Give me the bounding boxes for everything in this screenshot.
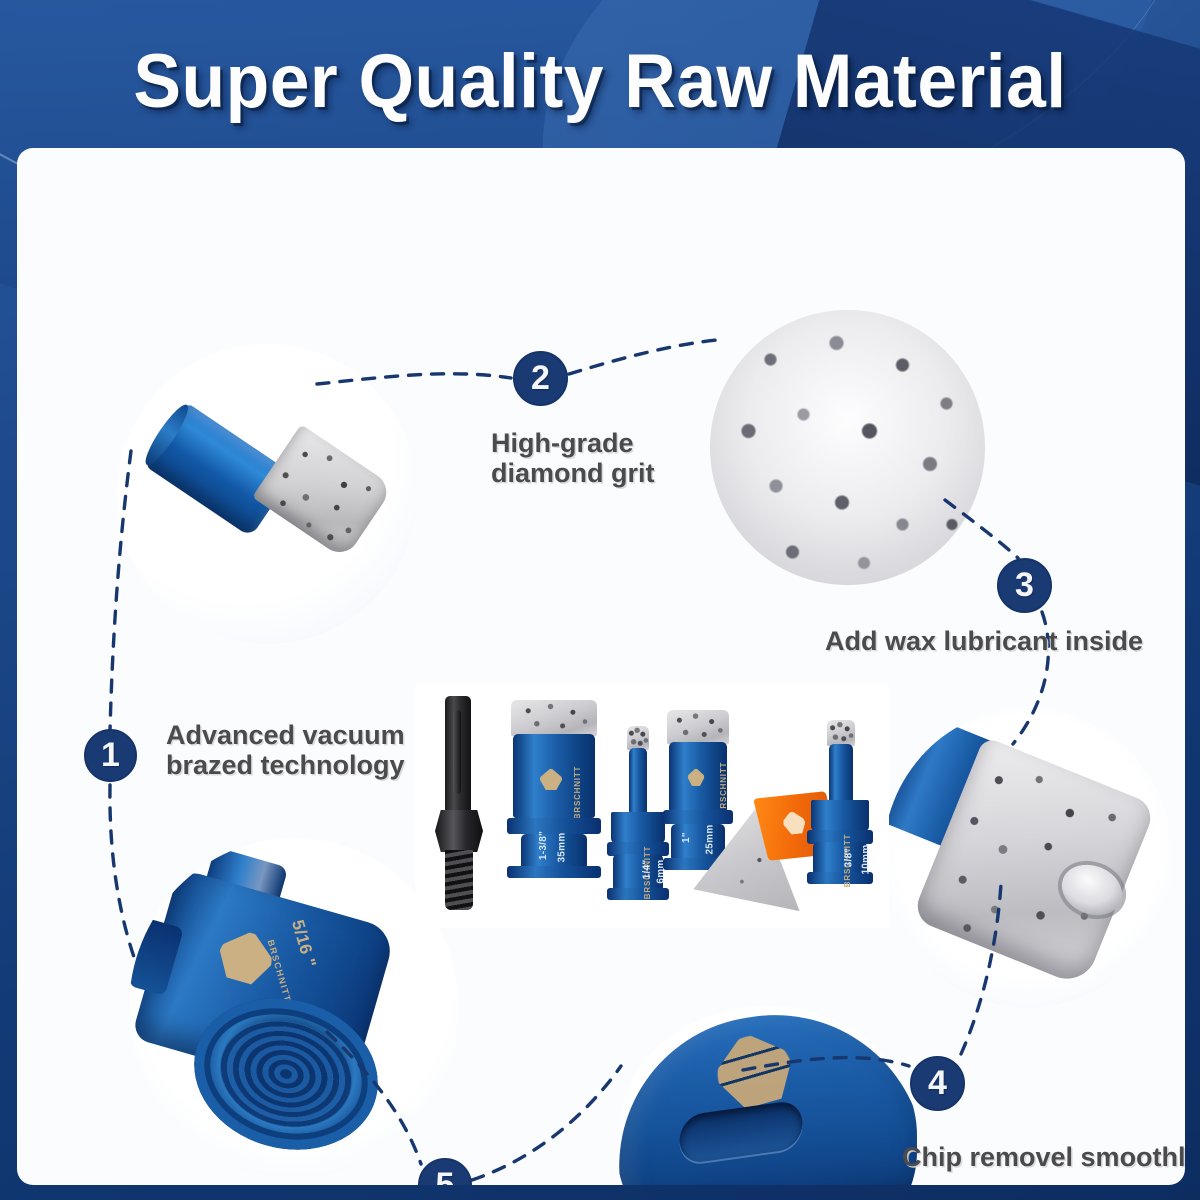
page-title: Super Quality Raw Material — [36, 38, 1164, 125]
bit-size-label: 1" — [681, 832, 692, 843]
bit-taper — [811, 800, 869, 832]
wire-1-bottom — [110, 785, 135, 960]
bit-crown — [511, 700, 597, 736]
callout-label-3: Add wax lubricant inside — [825, 626, 1143, 656]
content-panel: 5/16 " BRSCHNITT BRSCHNITT 1-3/8" — [17, 148, 1185, 1185]
callout-badge-5[interactable]: 5 — [418, 1158, 472, 1185]
bit-shank — [813, 842, 867, 874]
bit-metric-label: 35mm — [557, 832, 568, 862]
bit-brand-label: BRSCHNITT — [573, 766, 582, 819]
bit-size-label: 1-3/8" — [538, 831, 549, 860]
chip-slot-barrel-photo — [617, 1006, 917, 1185]
brand-logo-icon — [703, 1021, 804, 1115]
product-infographic-poster: Super Quality Raw Material — [0, 0, 1200, 1200]
bit-crown — [827, 720, 855, 746]
adapter-hex-nut — [435, 810, 483, 852]
adapter-shank — [445, 696, 471, 814]
bit-barrel — [829, 744, 853, 804]
bit-neck — [671, 824, 725, 860]
bit-brand-label: BRSCHNITT — [719, 762, 728, 815]
callout-badge-4[interactable]: 4 — [910, 1056, 965, 1111]
bit-metric-label: 25mm — [705, 824, 716, 854]
bit-base — [507, 866, 601, 878]
bit-flange — [507, 818, 601, 834]
bit-barrel — [629, 748, 647, 814]
callout-badge-3[interactable]: 3 — [997, 558, 1052, 613]
bit-size-label: 1/4" — [641, 860, 652, 880]
drill-bit-diamond-crown — [252, 424, 394, 560]
callout-badge-2[interactable]: 2 — [513, 351, 568, 406]
bit-base — [607, 888, 669, 900]
bit-neck — [521, 834, 587, 868]
bit-crown — [627, 726, 649, 750]
hollow-bit-tip-photo — [883, 708, 1173, 1008]
adapter-male-thread — [445, 850, 473, 910]
bit-metric-label: 10mm — [861, 844, 872, 874]
bit-crown — [667, 710, 729, 744]
callout-label-1: Advanced vacuum brazed technology — [166, 720, 405, 780]
barrel-body — [617, 1006, 917, 1185]
thread-connection-photo: 5/16 " BRSCHNITT — [129, 838, 459, 1178]
bit-taper — [611, 812, 665, 844]
product-lineup-photo: BRSCHNITT 1-3/8" 35mm BRSCHNITT 1/4" 6mm — [415, 684, 889, 928]
wire-2-right — [569, 340, 717, 374]
bit-size-label: 3/8" — [843, 848, 854, 868]
brazed-drill-bit-photo — [117, 344, 417, 644]
bit-flange — [663, 810, 733, 824]
callout-label-4: Chip removel smoothly — [902, 1142, 1185, 1172]
callout-badge-1[interactable]: 1 — [84, 729, 137, 782]
diamond-grit-macro-photo — [710, 310, 985, 585]
wire-5-right — [472, 1066, 621, 1180]
callout-label-2: High-grade diamond grit — [491, 428, 655, 488]
